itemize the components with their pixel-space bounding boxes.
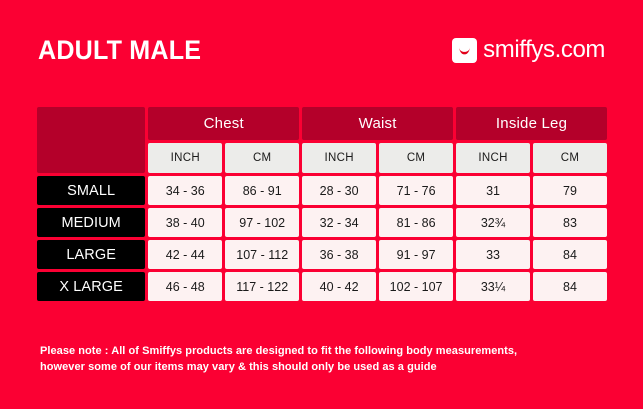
group-header-waist: Waist bbox=[302, 107, 453, 140]
cell-small-waist-cm: 71 - 76 bbox=[379, 176, 453, 205]
cell-large-inside-leg-inch: 33 bbox=[456, 240, 530, 269]
footnote: Please note : All of Smiffys products ar… bbox=[40, 344, 600, 375]
group-header-chest: Chest bbox=[148, 107, 299, 140]
footnote-line-2: however some of our items may vary & thi… bbox=[40, 360, 600, 376]
cell-medium-inside-leg-inch: 32¾ bbox=[456, 208, 530, 237]
table-row: X LARGE 46 - 48 117 - 122 40 - 42 102 - … bbox=[37, 272, 607, 301]
cell-large-inside-leg-cm: 84 bbox=[533, 240, 607, 269]
unit-header-chest-inch: INCH bbox=[148, 143, 222, 173]
smile-check-icon bbox=[452, 38, 477, 63]
cell-x-large-chest-inch: 46 - 48 bbox=[148, 272, 222, 301]
unit-header-chest-cm: CM bbox=[225, 143, 299, 173]
size-table: Chest Waist Inside Leg INCH CM INCH CM I… bbox=[34, 104, 610, 304]
brand-logo: smiffys.com bbox=[452, 38, 605, 63]
unit-header-inside-leg-cm: CM bbox=[533, 143, 607, 173]
cell-x-large-waist-cm: 102 - 107 bbox=[379, 272, 453, 301]
table-row: SMALL 34 - 36 86 - 91 28 - 30 71 - 76 31… bbox=[37, 176, 607, 205]
cell-large-chest-inch: 42 - 44 bbox=[148, 240, 222, 269]
table-head: Chest Waist Inside Leg INCH CM INCH CM I… bbox=[37, 107, 607, 173]
unit-header-waist-cm: CM bbox=[379, 143, 453, 173]
cell-large-waist-cm: 91 - 97 bbox=[379, 240, 453, 269]
cell-small-chest-inch: 34 - 36 bbox=[148, 176, 222, 205]
cell-medium-waist-inch: 32 - 34 bbox=[302, 208, 376, 237]
brand-name: smiffys.com bbox=[483, 38, 605, 62]
cell-medium-chest-cm: 97 - 102 bbox=[225, 208, 299, 237]
cell-medium-waist-cm: 81 - 86 bbox=[379, 208, 453, 237]
table-body: SMALL 34 - 36 86 - 91 28 - 30 71 - 76 31… bbox=[37, 176, 607, 301]
cell-small-waist-inch: 28 - 30 bbox=[302, 176, 376, 205]
cell-small-inside-leg-inch: 31 bbox=[456, 176, 530, 205]
row-label-small: SMALL bbox=[37, 176, 145, 205]
table-row: LARGE 42 - 44 107 - 112 36 - 38 91 - 97 … bbox=[37, 240, 607, 269]
cell-x-large-waist-inch: 40 - 42 bbox=[302, 272, 376, 301]
size-chart-root: ADULT MALE smiffys.com Chest Waist Insid… bbox=[0, 0, 643, 409]
cell-medium-chest-inch: 38 - 40 bbox=[148, 208, 222, 237]
cell-small-inside-leg-cm: 79 bbox=[533, 176, 607, 205]
page-title: ADULT MALE bbox=[38, 37, 201, 64]
cell-small-chest-cm: 86 - 91 bbox=[225, 176, 299, 205]
group-header-inside-leg: Inside Leg bbox=[456, 107, 607, 140]
footnote-line-1: Please note : All of Smiffys products ar… bbox=[40, 344, 600, 360]
cell-large-waist-inch: 36 - 38 bbox=[302, 240, 376, 269]
group-header-row: Chest Waist Inside Leg bbox=[37, 107, 607, 140]
row-label-x-large: X LARGE bbox=[37, 272, 145, 301]
cell-x-large-inside-leg-cm: 84 bbox=[533, 272, 607, 301]
cell-x-large-chest-cm: 117 - 122 bbox=[225, 272, 299, 301]
cell-medium-inside-leg-cm: 83 bbox=[533, 208, 607, 237]
unit-header-inside-leg-inch: INCH bbox=[456, 143, 530, 173]
table-row: MEDIUM 38 - 40 97 - 102 32 - 34 81 - 86 … bbox=[37, 208, 607, 237]
cell-x-large-inside-leg-inch: 33¼ bbox=[456, 272, 530, 301]
corner-cell bbox=[37, 107, 145, 173]
unit-header-waist-inch: INCH bbox=[302, 143, 376, 173]
cell-large-chest-cm: 107 - 112 bbox=[225, 240, 299, 269]
row-label-large: LARGE bbox=[37, 240, 145, 269]
row-label-medium: MEDIUM bbox=[37, 208, 145, 237]
chart-header: ADULT MALE smiffys.com bbox=[0, 0, 643, 100]
